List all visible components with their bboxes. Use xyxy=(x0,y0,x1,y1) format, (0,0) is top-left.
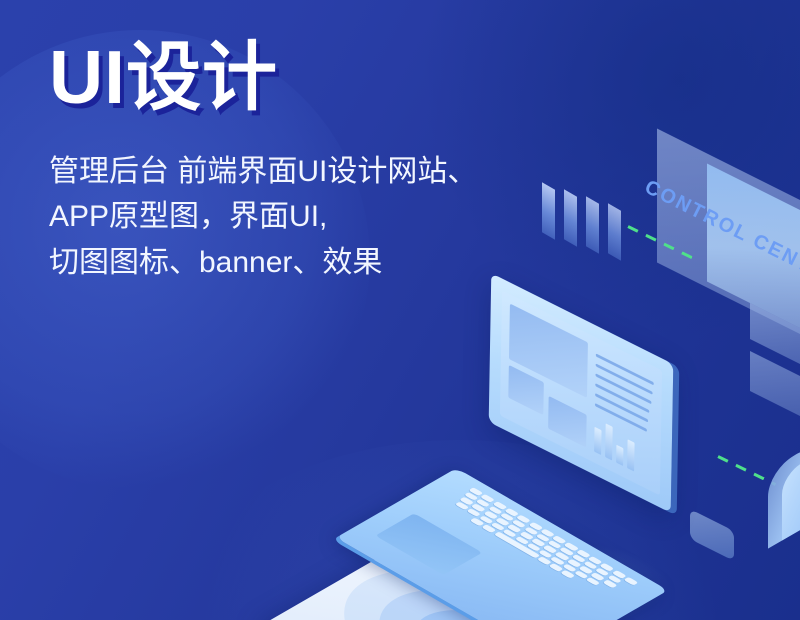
iso-slat-1 xyxy=(542,182,555,240)
iso-panel-edge-upper xyxy=(750,303,800,369)
headline-block: UI设计 管理后台 前端界面UI设计网站、 APP原型图，界面UI, 切图图标、… xyxy=(49,38,477,286)
subtitle-line-3: 切图图标、banner、效果 xyxy=(49,240,477,286)
screen-chart-bar xyxy=(605,423,613,460)
screen-bar-chart xyxy=(594,416,655,482)
dashed-tracer-upper xyxy=(627,225,693,259)
screen-sub-panel-2 xyxy=(548,396,587,448)
iso-slat-4 xyxy=(608,203,621,261)
subtitle-line-2: APP原型图，界面UI, xyxy=(49,194,477,240)
iso-panel-front xyxy=(707,164,800,341)
screen-chart-bar xyxy=(627,439,635,472)
keyboard-key xyxy=(549,563,564,572)
dashed-tracer-lower xyxy=(717,455,776,486)
ui-design-banner: CONTROL CENTER xyxy=(0,0,800,620)
iso-slat-3 xyxy=(586,196,599,254)
subtitle-line-1: 管理后台 前端界面UI设计网站、 xyxy=(49,149,477,195)
iso-curved-tab xyxy=(768,439,800,548)
screen-chart-bar xyxy=(616,445,623,466)
subtitle-block: 管理后台 前端界面UI设计网站、 APP原型图，界面UI, 切图图标、banne… xyxy=(49,149,477,286)
keyboard-key xyxy=(561,570,576,579)
iso-panel-edge-lower xyxy=(750,351,800,421)
keyboard-key xyxy=(624,577,639,586)
laptop-lid xyxy=(489,273,674,513)
screen-chart-bar xyxy=(594,427,601,455)
page-title: UI设计 xyxy=(49,38,477,117)
iso-chip xyxy=(690,509,734,561)
laptop-screen xyxy=(500,291,662,496)
keyboard-key xyxy=(537,556,552,565)
iso-slat-2 xyxy=(564,189,577,247)
control-center-label: CONTROL CENTER xyxy=(641,176,800,293)
iso-panel-back xyxy=(657,129,800,346)
